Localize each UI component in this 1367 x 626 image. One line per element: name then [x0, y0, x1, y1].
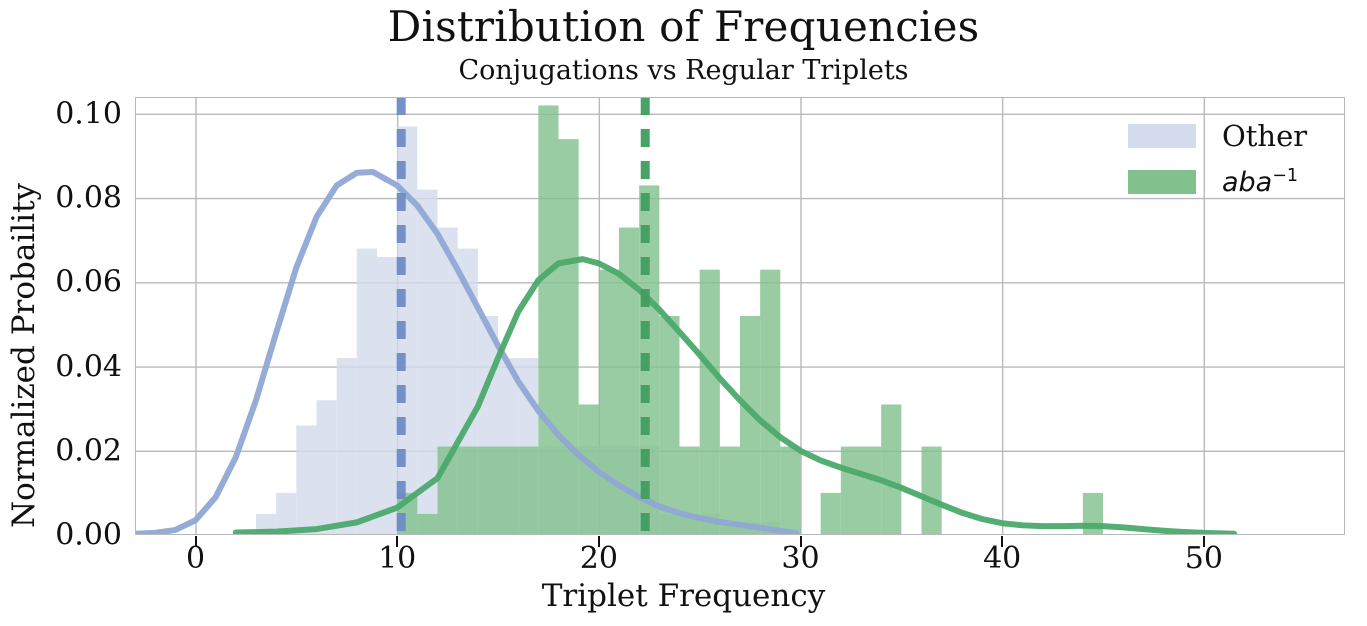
x-tick-mark [598, 536, 600, 547]
legend-item-other: Other [1128, 113, 1338, 159]
legend-label-aba-inverse: aba−1 [1222, 166, 1298, 198]
x-tick-mark [195, 536, 197, 547]
x-tick-mark [800, 536, 802, 547]
x-tick-mark [1203, 536, 1205, 547]
y-tick-label: 0.06 [55, 265, 122, 300]
chart-figure: Distribution of Frequencies Conjugations… [0, 0, 1367, 626]
legend-swatch-other [1128, 124, 1196, 148]
y-axis-label: Normalized Probaility [6, 183, 42, 528]
legend-label-other: Other [1222, 119, 1307, 153]
chart-subtitle: Conjugations vs Regular Triplets [0, 55, 1367, 86]
chart-title: Distribution of Frequencies [0, 2, 1367, 51]
x-axis-label: Triplet Frequency [0, 578, 1367, 614]
chart-legend: Other aba−1 [1128, 113, 1338, 205]
x-tick-mark [1001, 536, 1003, 547]
x-tick-mark [396, 536, 398, 547]
legend-item-aba-inverse: aba−1 [1128, 159, 1338, 205]
legend-swatch-aba-inverse [1128, 170, 1196, 194]
y-tick-label: 0.00 [55, 518, 122, 553]
y-tick-label: 0.10 [55, 96, 122, 131]
y-tick-label: 0.08 [55, 181, 122, 216]
y-tick-label: 0.02 [55, 433, 122, 468]
y-tick-label: 0.04 [55, 349, 122, 384]
